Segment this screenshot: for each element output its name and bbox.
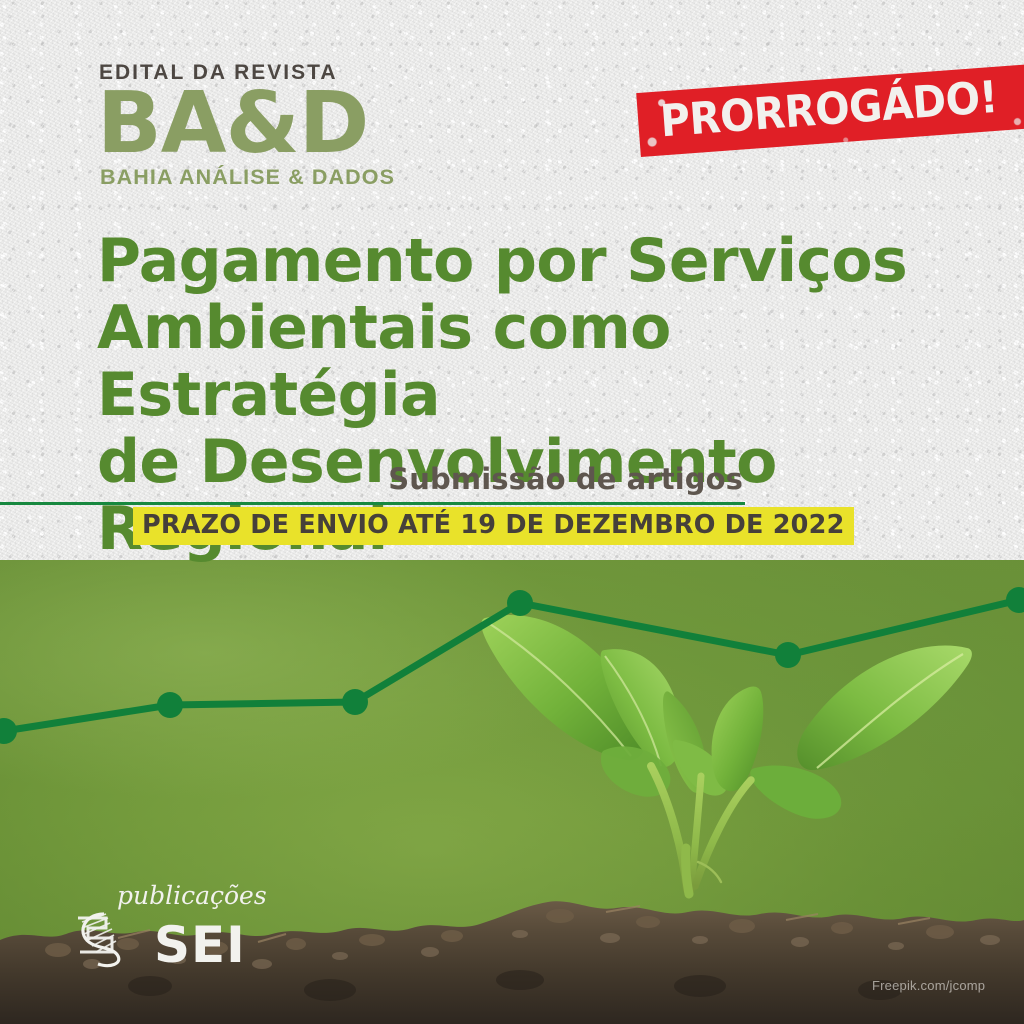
green-divider-rule (0, 502, 745, 505)
sei-acronym-label: SEI (154, 916, 246, 968)
poster-root: EDITAL DA REVISTA BA&D BAHIA ANÁLISE & D… (0, 0, 1024, 1024)
headline-line-1: Pagamento por Serviços (97, 228, 957, 295)
submission-label: Submissão de artigos (388, 465, 743, 494)
photo-credit: Freepik.com/jcomp (872, 978, 985, 993)
sei-publicacoes-label: publicações (117, 881, 267, 910)
journal-logo-block: EDITAL DA REVISTA BA&D BAHIA ANÁLISE & D… (97, 62, 417, 189)
sei-s-mark (78, 914, 119, 966)
journal-acronym: BA&D (97, 85, 417, 163)
journal-fullname: BAHIA ANÁLISE & DADOS (100, 167, 417, 189)
headline-line-2: Ambientais como Estratégia (97, 295, 957, 429)
sei-publisher-logo: publicações SEI (62, 878, 272, 968)
deadline-wrapper: PRAZO DE ENVIO ATÉ 19 DE DEZEMBRO DE 202… (133, 507, 854, 545)
deadline-badge: PRAZO DE ENVIO ATÉ 19 DE DEZEMBRO DE 202… (133, 507, 854, 545)
